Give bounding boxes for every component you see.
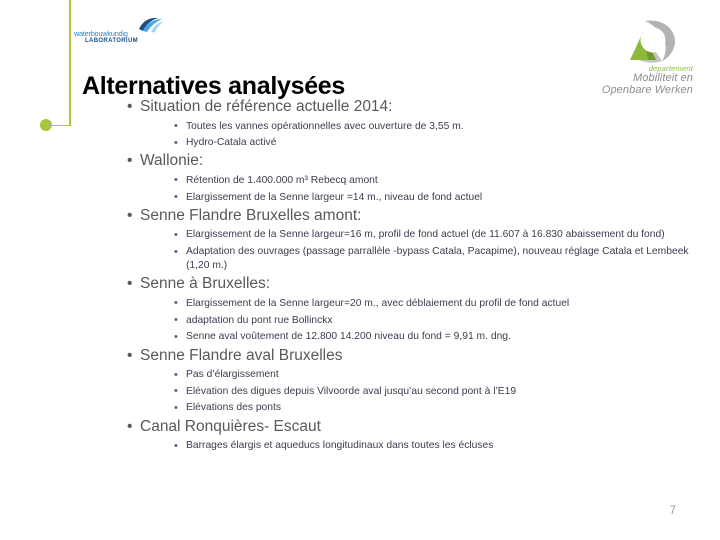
bullet-heading: •Situation de référence actuelle 2014: (126, 96, 696, 117)
logo-right-line1: Mobiliteit en (573, 72, 693, 84)
bullet-sub-item-label: Toutes les vannes opérationnelles avec o… (186, 121, 464, 132)
bullet-marker-icon: • (127, 150, 132, 171)
logo-waterbouwkundig-laboratorium: waterbouwkundig LABORATORIUM (74, 16, 166, 48)
bullet-marker-icon: • (174, 401, 178, 415)
bullet-sub-item: •Barrages élargis et aqueducs longitudin… (173, 439, 696, 453)
bullet-sub-item: •Rétention de 1.400.000 m³ Rebecq amont (173, 174, 696, 188)
bullet-sub-item-label: Rétention de 1.400.000 m³ Rebecq amont (186, 175, 378, 186)
bullet-group: •Senne Flandre Bruxelles amont:•Elargiss… (126, 205, 696, 274)
bullet-marker-icon: • (174, 119, 178, 133)
bullet-sub-item: •Elargissement de la Senne largeur=16 m,… (173, 228, 696, 242)
bullet-sub-item-label: Hydro-Catala activé (186, 137, 276, 148)
bullet-heading-label: Situation de référence actuelle 2014: (140, 98, 392, 115)
bullet-sub-item-label: Elargissement de la Senne largeur =14 m.… (186, 192, 482, 203)
bullet-group: •Senne à Bruxelles:•Elargissement de la … (126, 273, 696, 344)
bullet-sub-item: •Elargissement de la Senne largeur=20 m.… (173, 297, 696, 311)
slide-body: •Situation de référence actuelle 2014:•T… (126, 96, 696, 453)
bullet-sub-item-label: Elargissement de la Senne largeur=20 m.,… (186, 298, 569, 309)
bullet-heading-label: Senne Flandre Bruxelles amont: (140, 207, 361, 224)
bullet-marker-icon: • (174, 190, 178, 204)
bullet-sub-item: •Hydro-Catala activé (173, 136, 696, 150)
bullet-marker-icon: • (174, 136, 178, 150)
bullet-group: •Senne Flandre aval Bruxelles•Pas d’élar… (126, 345, 696, 416)
bullet-sub-item-label: Senne aval voûtement de 12.800 14.200 ni… (186, 331, 511, 342)
bullet-marker-icon: • (174, 439, 178, 453)
bullet-group: •Situation de référence actuelle 2014:•T… (126, 96, 696, 150)
bullet-marker-icon: • (174, 296, 178, 310)
bullet-sub-item: •adaptation du pont rue Bollinckx (173, 314, 696, 328)
bullet-sub-item-label: Adaptation des ouvrages (passage parrall… (186, 246, 689, 271)
bullet-sub-item: •Elévations des ponts (173, 401, 696, 415)
logo-left-subtitle: LABORATORIUM (85, 38, 138, 44)
page-number: 7 (670, 505, 676, 517)
bullet-marker-icon: • (174, 330, 178, 344)
bullet-sub-item-label: Elévation des digues depuis Vilvoorde av… (186, 386, 516, 397)
bullet-heading: •Senne à Bruxelles: (126, 273, 696, 294)
bullet-sub-item-label: Barrages élargis et aqueducs longitudina… (186, 440, 493, 451)
wave-icon (138, 16, 164, 33)
bullet-group: •Canal Ronquières- Escaut•Barrages élarg… (126, 416, 696, 454)
bullet-marker-icon: • (174, 245, 178, 259)
bullet-heading-label: Senne Flandre aval Bruxelles (140, 347, 342, 364)
bullet-marker-icon: • (127, 345, 132, 366)
bullet-marker-icon: • (127, 416, 132, 437)
logo-right-line2: Openbare Werken (573, 84, 693, 96)
bullet-heading: •Wallonie: (126, 150, 696, 171)
bullet-heading: •Senne Flandre Bruxelles amont: (126, 205, 696, 226)
bullet-marker-icon: • (174, 173, 178, 187)
bullet-sub-item-label: Elévations des ponts (186, 402, 281, 413)
decorative-vertical-line (69, 0, 71, 126)
bullet-sub-item: •Elargissement de la Senne largeur =14 m… (173, 191, 696, 205)
bullet-sub-item: •Pas d’élargissement (173, 368, 696, 382)
bullet-heading-label: Canal Ronquières- Escaut (140, 418, 321, 435)
bullet-sub-item: •Adaptation des ouvrages (passage parral… (173, 245, 696, 273)
bullet-sub-item: •Toutes les vannes opérationnelles avec … (173, 120, 696, 134)
bullet-sub-item-label: Elargissement de la Senne largeur=16 m, … (186, 229, 665, 240)
bullet-sub-item-label: adaptation du pont rue Bollinckx (186, 315, 333, 326)
bullet-heading-label: Wallonie: (140, 152, 203, 169)
bullet-marker-icon: • (127, 96, 132, 117)
bullet-marker-icon: • (127, 205, 132, 226)
bullet-sub-item: •Elévation des digues depuis Vilvoorde a… (173, 385, 696, 399)
bullet-marker-icon: • (174, 313, 178, 327)
bullet-heading: •Canal Ronquières- Escaut (126, 416, 696, 437)
flemish-lion-triangle-icon (621, 20, 677, 64)
bullet-marker-icon: • (127, 273, 132, 294)
decorative-dot (40, 119, 52, 131)
bullet-sub-item: •Senne aval voûtement de 12.800 14.200 n… (173, 330, 696, 344)
bullet-heading-label: Senne à Bruxelles: (140, 275, 270, 292)
bullet-sub-item-label: Pas d’élargissement (186, 369, 279, 380)
logo-departement-mobiliteit-openbare-werken: departement Mobiliteit en Openbare Werke… (573, 20, 693, 98)
bullet-marker-icon: • (174, 228, 178, 242)
bullet-heading: •Senne Flandre aval Bruxelles (126, 345, 696, 366)
bullet-marker-icon: • (174, 384, 178, 398)
bullet-group: •Wallonie:•Rétention de 1.400.000 m³ Reb… (126, 150, 696, 204)
bullet-marker-icon: • (174, 368, 178, 382)
